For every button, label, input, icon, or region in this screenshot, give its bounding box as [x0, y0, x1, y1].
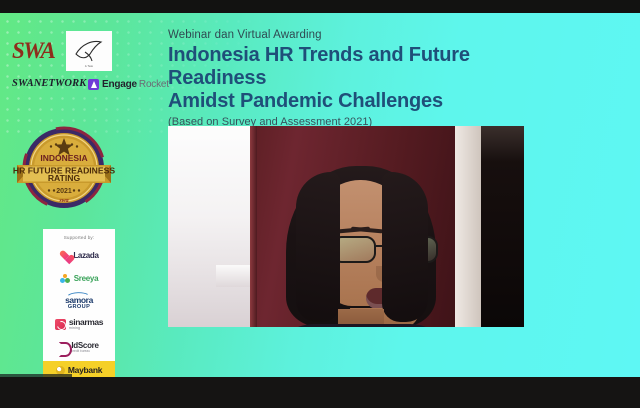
seal-swa-mark: swa	[58, 198, 68, 204]
screen-root: SWA A Tale SWANETWORK Engage Rocket	[0, 0, 640, 408]
seal-top-text: INDONESIA	[40, 153, 87, 163]
sponsors-card: Supported by: Lazada Sreeya samora GROUP	[43, 229, 115, 377]
letterbox-bottom	[0, 377, 640, 408]
award-seal: INDONESIA HR FUTURE READINESS RATING 202…	[13, 126, 115, 210]
slide-kicker: Webinar dan Virtual Awarding	[168, 29, 568, 41]
presentation-slide: SWA A Tale SWANETWORK Engage Rocket	[0, 13, 640, 377]
video-bg-door-edge	[250, 126, 257, 327]
slide-headline-block: Webinar dan Virtual Awarding Indonesia H…	[168, 29, 568, 128]
engagerocket-label-b: Rocket	[139, 79, 169, 90]
video-bg-sill	[216, 265, 250, 287]
speaker-shoulders	[270, 324, 454, 327]
sponsor-sub: GROUP	[65, 305, 93, 311]
sponsor-sub: mining	[69, 327, 103, 331]
sponsor-name: Sreeya	[74, 274, 98, 283]
engagerocket-logo: Engage Rocket	[88, 77, 169, 91]
video-bg-dark-area	[481, 126, 524, 327]
sreeya-dots-icon	[60, 274, 71, 284]
idscore-logo: IdScore credit bureau	[71, 342, 98, 353]
swanetwork-logo: SWANETWORK	[12, 76, 86, 92]
participant-name-label: SWA Webinar	[0, 374, 72, 377]
video-bg-wall	[168, 126, 250, 327]
brand-logo-row: SWA A Tale	[8, 33, 158, 69]
video-bg-doorframe	[455, 126, 481, 327]
bird-icon	[72, 38, 106, 64]
sponsor-sreeya: Sreeya	[47, 267, 111, 290]
slide-title-line-2: Amidst Pandemic Challenges	[168, 90, 568, 113]
speaker-hair-front-right	[382, 172, 428, 322]
samora-logo: samora GROUP	[65, 292, 93, 311]
video-participant-tile[interactable]	[168, 126, 524, 327]
sponsor-name: Maybank	[68, 365, 102, 375]
sponsor-samora: samora GROUP	[47, 290, 111, 313]
letterbox-top	[0, 0, 640, 13]
swa-logo: SWA	[12, 33, 54, 69]
network-logo-row: SWANETWORK Engage Rocket	[8, 76, 168, 92]
seal-banner-line2: RATING	[48, 173, 81, 183]
sponsors-label: Supported by:	[47, 235, 111, 240]
sponsor-sub: credit bureau	[71, 350, 98, 353]
video-speaker	[286, 166, 436, 327]
sponsor-lazada: Lazada	[47, 244, 111, 267]
sinarmas-logo: sinarmas mining	[69, 318, 103, 330]
sponsor-idscore: IdScore credit bureau	[47, 336, 111, 359]
lazada-heart-icon	[59, 251, 70, 261]
slide-title-line-1: Indonesia HR Trends and Future Readiness	[168, 44, 568, 90]
bird-logo-box: A Tale	[66, 31, 112, 71]
engagerocket-label-a: Engage	[102, 79, 137, 90]
idscore-icon	[59, 342, 68, 353]
seal-year: 2021	[56, 188, 72, 195]
sinarmas-icon	[55, 319, 66, 330]
speaker-eyebrow-right	[351, 227, 383, 234]
speaker-hair-front-left	[296, 172, 340, 322]
sponsor-name: Lazada	[73, 251, 98, 260]
engagerocket-icon	[88, 79, 99, 90]
sponsor-sinarmas: sinarmas mining	[47, 313, 111, 336]
bird-logo-caption: A Tale	[66, 65, 112, 68]
